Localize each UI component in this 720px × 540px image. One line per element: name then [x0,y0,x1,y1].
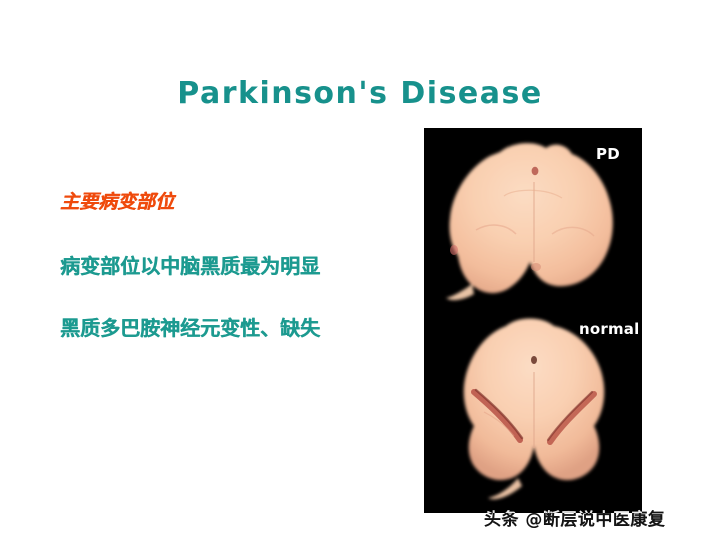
content-heading: 主要病变部位 [60,192,410,213]
page-title: Parkinson's Disease [0,76,720,111]
content-point-1: 病变部位以中脑黑质最为明显 [60,255,410,277]
watermark-prefix: 头条 @ [484,510,543,530]
specimen-image-pd [442,138,624,316]
slide-canvas: Parkinson's Disease 主要病变部位 病变部位以中脑黑质最为明显… [0,0,720,540]
content-text-block: 主要病变部位 病变部位以中脑黑质最为明显 黑质多巴胺神经元变性、缺失 [60,192,410,339]
specimen-label-pd: PD [596,145,620,163]
specimen-label-normal: normal [579,320,639,338]
watermark-handle: 断层说中医康复 [543,510,666,530]
watermark: 头条 @断层说中医康复 [484,505,665,530]
specimen-photo-panel: PD normal [424,128,642,513]
content-point-2: 黑质多巴胺神经元变性、缺失 [60,317,410,339]
